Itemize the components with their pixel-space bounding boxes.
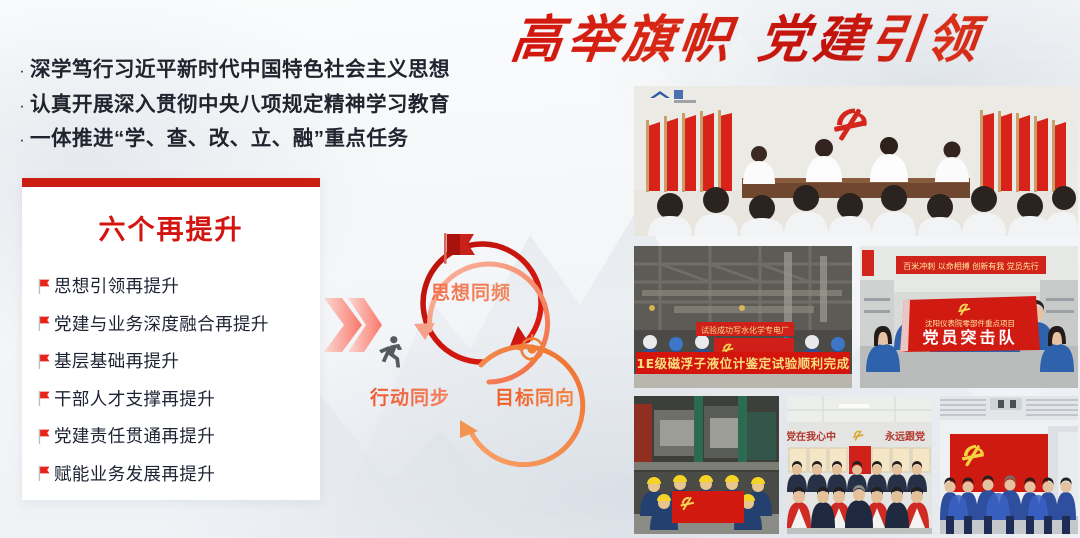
list-item: 赋能业务发展再提升: [38, 461, 320, 486]
photo-flag-backdrop-group: [940, 396, 1078, 534]
bullet-marker-icon: ·: [14, 97, 30, 114]
page-title: 高举旗帜 党建引领: [508, 2, 1076, 68]
flag-bullet-icon: [38, 465, 52, 481]
bullet-text: 认真开展深入贯彻中央八项规定精神学习教育: [30, 92, 450, 118]
bullet-item: · 认真开展深入贯彻中央八项规定精神学习教育: [14, 92, 534, 118]
flag-icon: [444, 233, 475, 264]
list-item-label: 赋能业务发展再提升: [54, 461, 215, 486]
photo-commando-team: 百米冲刺 以命相搏 创新有我 党员先行: [860, 246, 1078, 388]
svg-text:百米冲刺 以命相搏 创新有我 党员先行: 百米冲刺 以命相搏 创新有我 党员先行: [903, 261, 1039, 271]
list-item-label: 党建责任贯通再提升: [54, 423, 215, 448]
list-item: 党建责任贯通再提升: [38, 423, 320, 448]
bullet-item: · 深学笃行习近平新时代中国特色社会主义思想: [14, 57, 534, 83]
bullet-list: · 深学笃行习近平新时代中国特色社会主义思想 · 认真开展深入贯彻中央八项规定精…: [14, 57, 534, 161]
svg-text:1E级磁浮子液位计鉴定试验顺利完成: 1E级磁浮子液位计鉴定试验顺利完成: [636, 356, 849, 371]
six-improvements-card: 六个再提升 思想引领再提升 党建与业务深度融合再提升 基层基础再提升: [22, 178, 320, 500]
list-item-label: 党建与业务深度融合再提升: [54, 311, 269, 336]
card-title: 六个再提升: [22, 208, 320, 247]
photo-party-room-group: 党在我心中 永远跟党: [787, 396, 932, 534]
venn-label-top: 思想同频: [431, 278, 511, 305]
list-item-label: 基层基础再提升: [54, 348, 179, 373]
venn-label-bottom-right: 目标同向: [495, 383, 575, 410]
list-item: 干部人才支撑再提升: [38, 386, 320, 411]
card-item-list: 思想引领再提升 党建与业务深度融合再提升 基层基础再提升 干部人才支撑再提升: [38, 273, 320, 486]
runner-icon: [379, 336, 402, 367]
list-item-label: 干部人才支撑再提升: [54, 386, 215, 411]
svg-text:试验成功写水化学专电厂: 试验成功写水化学专电厂: [701, 325, 789, 335]
cycle-venn-diagram: 思想同频 行动同步 目标同向: [352, 222, 620, 480]
flag-bullet-icon: [38, 278, 52, 294]
list-item-label: 思想引领再提升: [54, 273, 179, 298]
photo-factory-flag: [634, 396, 779, 534]
bullet-marker-icon: ·: [14, 131, 30, 148]
flag-bullet-icon: [38, 428, 52, 444]
svg-text:党员突击队: 党员突击队: [922, 328, 1017, 347]
list-item: 党建与业务深度融合再提升: [38, 311, 320, 336]
flag-bullet-icon: [38, 315, 52, 331]
bullet-marker-icon: ·: [14, 62, 30, 79]
venn-circles: [352, 222, 620, 480]
bullet-text: 一体推进“学、查、改、立、融”重点任务: [30, 126, 409, 152]
venn-label-bottom-left: 行动同步: [370, 383, 450, 410]
photo-conference-meeting: [634, 86, 1078, 236]
bullet-item: · 一体推进“学、查、改、立、融”重点任务: [14, 126, 534, 152]
flag-bullet-icon: [38, 390, 52, 406]
slide-canvas: 高举旗帜 党建引领 · 深学笃行习近平新时代中国特色社会主义思想 · 认真开展深…: [0, 0, 1080, 538]
flag-bullet-icon: [38, 353, 52, 369]
svg-text:永远跟党: 永远跟党: [884, 430, 925, 443]
photo-workshop-banner: 试验成功写水化学专电厂 1E级磁浮子液位计鉴定试验顺利完成: [634, 246, 852, 388]
list-item: 思想引领再提升: [38, 273, 320, 298]
card-accent-bar: [22, 178, 320, 187]
list-item: 基层基础再提升: [38, 348, 320, 373]
svg-text:党在我心中: 党在我心中: [787, 430, 836, 443]
svg-text:沈阳仪表院零部件重点项目: 沈阳仪表院零部件重点项目: [925, 318, 1015, 328]
bullet-text: 深学笃行习近平新时代中国特色社会主义思想: [30, 57, 450, 83]
